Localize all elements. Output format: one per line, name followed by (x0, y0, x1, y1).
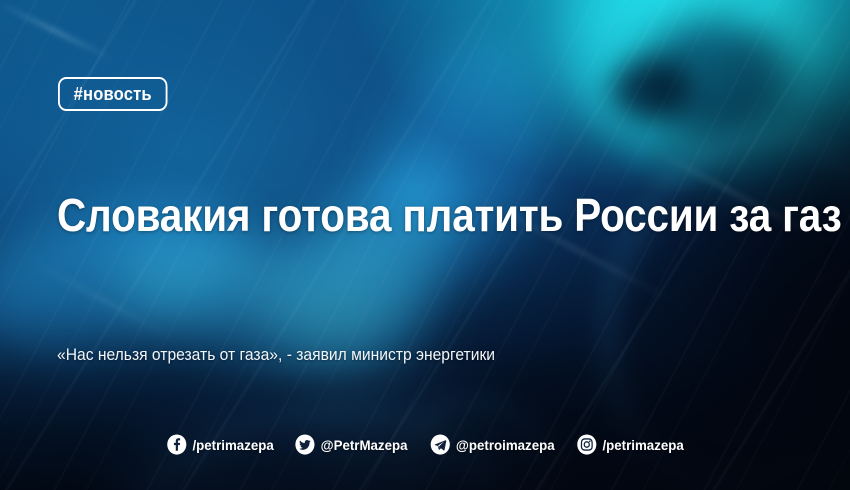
page-title: Словакия готова платить России за газ в … (57, 190, 726, 240)
social-handle: /petrimazepa (602, 437, 683, 453)
facebook-icon (167, 434, 187, 455)
card-content: #новость Словакия готова платить России … (0, 0, 850, 490)
category-badge[interactable]: #новость (58, 77, 167, 111)
news-card: #новость Словакия готова платить России … (0, 0, 850, 490)
social-link-facebook[interactable]: /petrimazepa (167, 434, 274, 455)
social-link-telegram[interactable]: @petroimazepa (430, 434, 554, 455)
subtitle: «Нас нельзя отрезать от газа», - заявил … (57, 344, 495, 366)
social-links: /petrimazepa @PetrMazepa (0, 434, 850, 455)
social-link-twitter[interactable]: @PetrMazepa (295, 434, 408, 455)
social-handle: @PetrMazepa (321, 437, 408, 453)
instagram-icon (577, 434, 597, 455)
social-handle: @petroimazepa (456, 437, 555, 453)
telegram-icon (430, 434, 450, 455)
social-handle: /petrimazepa (192, 437, 273, 453)
twitter-icon (295, 434, 315, 455)
social-link-instagram[interactable]: /petrimazepa (577, 434, 684, 455)
